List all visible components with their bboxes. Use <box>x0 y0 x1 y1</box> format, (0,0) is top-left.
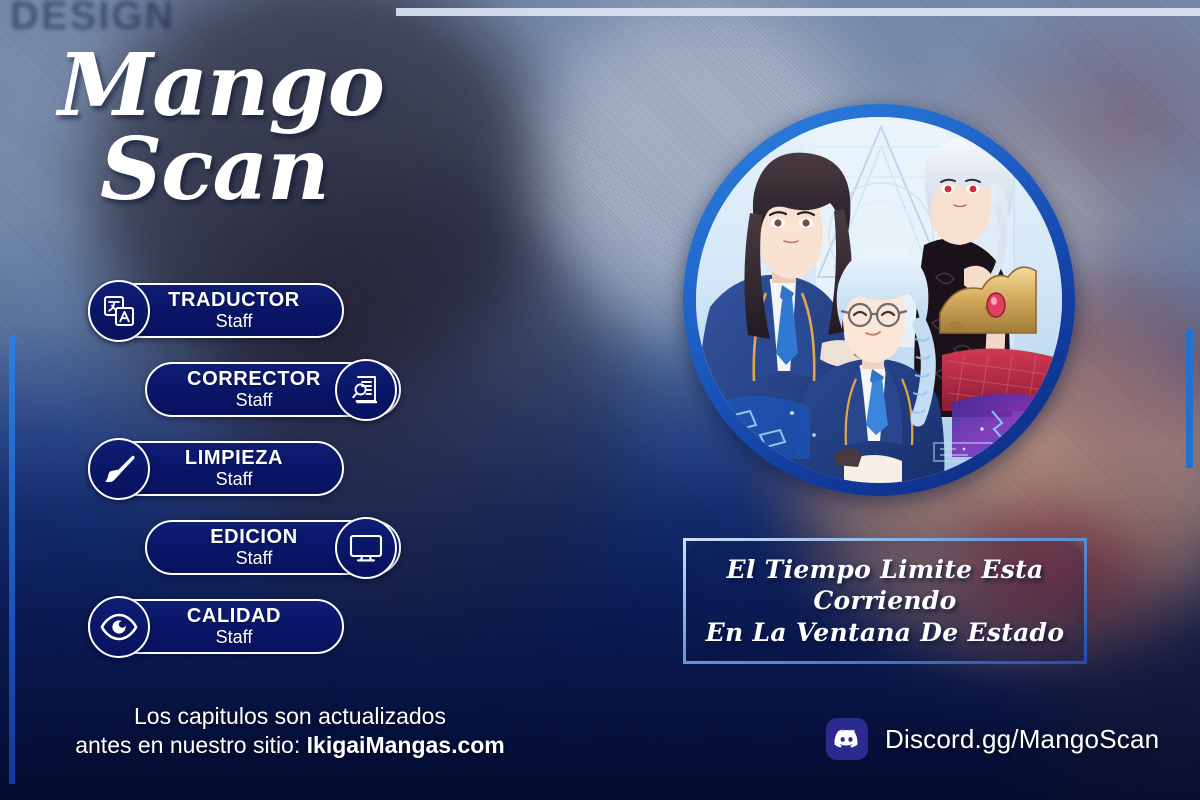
credits-list: TRADUCTOR Staff CORRECTOR Staff <box>0 283 440 678</box>
credit-row-calidad: CALIDAD Staff <box>0 599 440 654</box>
credit-role-label: CALIDAD <box>187 606 281 626</box>
credit-role-label: TRADUCTOR <box>168 290 300 310</box>
credit-staff-label: Staff <box>216 312 253 331</box>
credit-staff-label: Staff <box>236 391 273 410</box>
site-note-line-2: antes en nuestro sitio: IkigaiMangas.com <box>40 731 540 760</box>
brand-logo: Mango Scan <box>58 45 478 230</box>
brand-logo-line-2: Scan <box>100 127 478 213</box>
ghost-banner-text: DESIGN <box>10 0 175 39</box>
translate-icon <box>88 280 150 342</box>
site-note-domain: IkigaiMangas.com <box>307 732 505 758</box>
site-note-line-1: Los capitulos son actualizados <box>40 702 540 731</box>
cover-ring <box>683 104 1075 496</box>
credit-staff-label: Staff <box>216 628 253 647</box>
credit-row-corrector: CORRECTOR Staff <box>0 362 440 417</box>
brand-logo-line-1: Mango <box>58 45 478 127</box>
discord-link[interactable]: Discord.gg/MangoScan <box>826 718 1159 760</box>
series-title-text: El Tiempo Limite Esta Corriendo En La Ve… <box>686 554 1084 649</box>
site-note-prefix: antes en nuestro sitio: <box>75 732 306 758</box>
discord-label: Discord.gg/MangoScan <box>885 724 1159 755</box>
top-divider-rule <box>396 8 1200 16</box>
credit-staff-label: Staff <box>216 470 253 489</box>
credits-page: DESIGN Mango Scan TRADUCTOR Staff <box>0 0 1200 800</box>
cover-artwork <box>696 117 1062 483</box>
proofread-icon <box>335 359 397 421</box>
credit-staff-label: Staff <box>236 549 273 568</box>
right-accent-rule <box>1186 330 1193 468</box>
credit-role-label: CORRECTOR <box>187 369 321 389</box>
credit-row-traductor: TRADUCTOR Staff <box>0 283 440 338</box>
eye-icon <box>88 596 150 658</box>
credit-row-limpieza: LIMPIEZA Staff <box>0 441 440 496</box>
credit-row-edicion: EDICION Staff <box>0 520 440 575</box>
credit-role-label: LIMPIEZA <box>185 448 283 468</box>
site-update-note: Los capitulos son actualizados antes en … <box>40 702 540 761</box>
discord-icon <box>826 718 868 760</box>
monitor-icon <box>335 517 397 579</box>
credit-role-label: EDICION <box>210 527 298 547</box>
brush-icon <box>88 438 150 500</box>
series-title-card: El Tiempo Limite Esta Corriendo En La Ve… <box>683 538 1087 664</box>
